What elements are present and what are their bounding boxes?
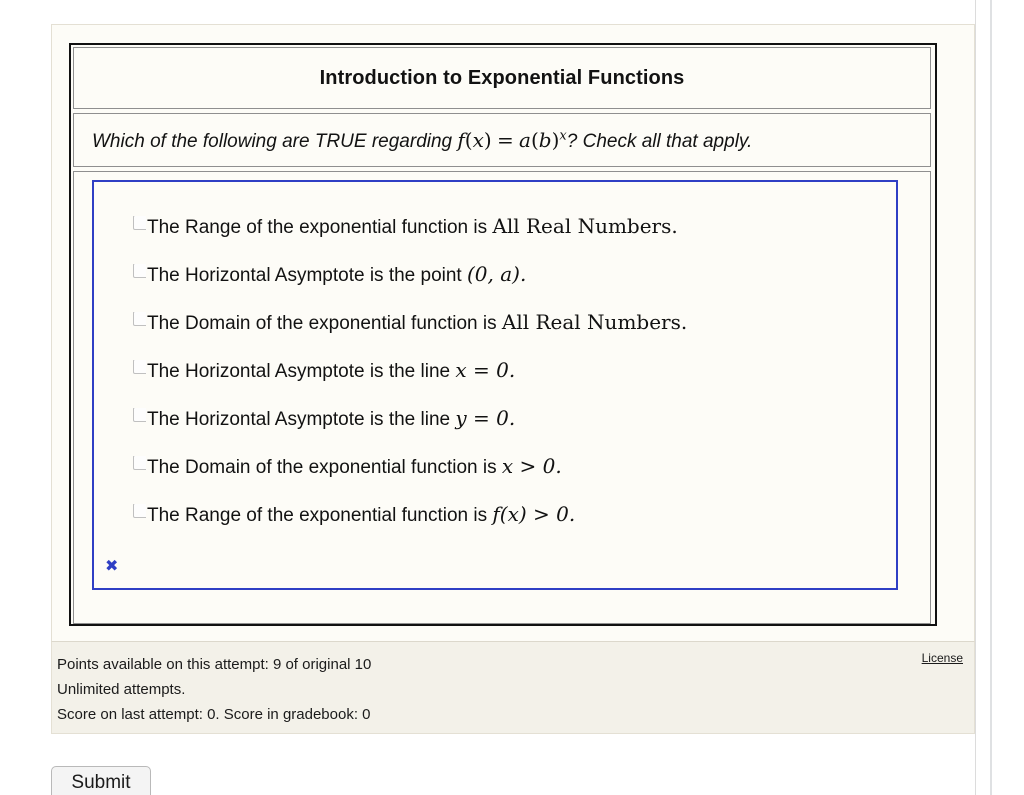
question-prompt: Which of the following are TRUE regardin… — [92, 128, 752, 153]
option-label-1: The Horizontal Asymptote is the point (0… — [147, 264, 526, 285]
license-link[interactable]: License — [922, 651, 963, 665]
answers-blue-panel: The Range of the exponential function is… — [92, 180, 898, 590]
option-math-5: x > 0. — [502, 454, 562, 478]
option-math-4: y = 0. — [455, 406, 515, 430]
question-title-box: Introduction to Exponential Functions — [73, 47, 931, 109]
status-attempts: Unlimited attempts. — [57, 677, 371, 702]
prompt-math-b: b — [539, 128, 552, 152]
prompt-math-a: a — [519, 128, 531, 152]
option-label-2: The Domain of the exponential function i… — [147, 312, 687, 333]
status-panel: Points available on this attempt: 9 of o… — [51, 641, 975, 734]
option-label-3: The Horizontal Asymptote is the line x =… — [147, 360, 515, 381]
option-math-3: x = 0. — [455, 358, 515, 382]
checkbox-option-5[interactable] — [133, 456, 146, 476]
status-text-block: Points available on this attempt: 9 of o… — [57, 652, 371, 727]
prompt-math-close: ) — [484, 128, 492, 152]
question-prompt-box: Which of the following are TRUE regardin… — [73, 113, 931, 167]
question-frame: Introduction to Exponential Functions Wh… — [69, 43, 937, 626]
option-text-1: The Horizontal Asymptote is the point — [147, 265, 467, 286]
option-label-4: The Horizontal Asymptote is the line y =… — [147, 408, 515, 429]
option-text-5: The Domain of the exponential function i… — [147, 457, 502, 478]
checkbox-option-6[interactable] — [133, 504, 146, 524]
checkbox-option-3[interactable] — [133, 360, 146, 380]
option-row-2[interactable]: The Domain of the exponential function i… — [94, 298, 896, 346]
checkbox-option-2[interactable] — [133, 312, 146, 332]
option-math-0: All Real Numbers. — [492, 214, 677, 238]
page-scrollbar[interactable] — [990, 0, 992, 795]
option-row-0[interactable]: The Range of the exponential function is… — [94, 202, 896, 250]
option-row-1[interactable]: The Horizontal Asymptote is the point (0… — [94, 250, 896, 298]
incorrect-marker-icon: ✖ — [105, 558, 118, 574]
answers-outer-box: The Range of the exponential function is… — [73, 171, 931, 624]
checkbox-option-0[interactable] — [133, 216, 146, 236]
checkbox-option-4[interactable] — [133, 408, 146, 428]
prompt-math-f: f — [457, 128, 464, 152]
page-title: Introduction to Exponential Functions — [320, 67, 685, 90]
option-label-0: The Range of the exponential function is… — [147, 216, 678, 237]
checkbox-option-1[interactable] — [133, 264, 146, 284]
status-score: Score on last attempt: 0. Score in grade… — [57, 702, 371, 727]
status-points-available: Points available on this attempt: 9 of o… — [57, 652, 371, 677]
prompt-math-exponent: x — [559, 128, 566, 143]
option-text-3: The Horizontal Asymptote is the line — [147, 361, 455, 382]
option-text-0: The Range of the exponential function is — [147, 217, 492, 238]
option-row-4[interactable]: The Horizontal Asymptote is the line y =… — [94, 394, 896, 442]
clipped-top-text — [0, 0, 1024, 8]
option-text-2: The Domain of the exponential function i… — [147, 313, 502, 334]
page-gutter-divider — [975, 0, 976, 795]
option-text-4: The Horizontal Asymptote is the line — [147, 409, 455, 430]
option-row-3[interactable]: The Horizontal Asymptote is the line x =… — [94, 346, 896, 394]
option-row-5[interactable]: The Domain of the exponential function i… — [94, 442, 896, 490]
option-text-6: The Range of the exponential function is — [147, 505, 492, 526]
submit-button[interactable]: Submit — [51, 766, 151, 795]
page-root: Introduction to Exponential Functions Wh… — [0, 0, 1024, 795]
problem-card: Introduction to Exponential Functions Wh… — [51, 24, 975, 734]
option-label-6: The Range of the exponential function is… — [147, 504, 575, 525]
option-math-6: f(x) > 0. — [492, 502, 575, 526]
option-label-5: The Domain of the exponential function i… — [147, 456, 562, 477]
prompt-lead: Which of the following are TRUE regardin… — [92, 131, 457, 152]
prompt-math-equals: = — [497, 128, 514, 152]
prompt-math-open: ( — [465, 128, 473, 152]
prompt-math-x: x — [473, 128, 484, 152]
prompt-tail: ? Check all that apply. — [567, 131, 753, 152]
option-list: The Range of the exponential function is… — [94, 202, 896, 538]
option-row-6[interactable]: The Range of the exponential function is… — [94, 490, 896, 538]
prompt-math-b-open: ( — [531, 128, 539, 152]
option-math-1: (0, a). — [467, 262, 526, 286]
option-math-2: All Real Numbers. — [502, 310, 687, 334]
